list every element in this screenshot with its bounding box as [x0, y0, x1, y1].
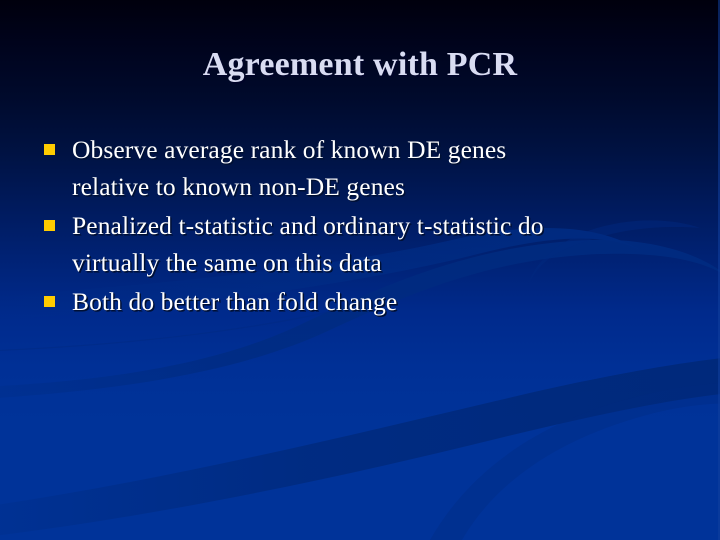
list-item: Observe average rank of known DE genes r…: [44, 131, 684, 205]
bullet-square-icon: [44, 296, 55, 307]
bullet-text: Observe average rank of known DE genes r…: [72, 131, 684, 205]
bullet-line: Penalized t-statistic and ordinary t-sta…: [72, 207, 684, 244]
bullet-square-icon: [44, 220, 55, 231]
bullet-list: Observe average rank of known DE genes r…: [44, 131, 684, 322]
bullet-line: Observe average rank of known DE genes: [72, 131, 684, 168]
list-item: Penalized t-statistic and ordinary t-sta…: [44, 207, 684, 281]
list-item: Both do better than fold change: [44, 283, 684, 320]
bullet-line: Both do better than fold change: [72, 283, 684, 320]
bullet-line: relative to known non-DE genes: [72, 168, 684, 205]
bullet-square-icon: [44, 144, 55, 155]
bullet-line: virtually the same on this data: [72, 244, 684, 281]
bullet-text: Both do better than fold change: [72, 283, 684, 320]
slide-canvas: Agreement with PCR Observe average rank …: [0, 0, 720, 540]
page-title: Agreement with PCR: [50, 44, 670, 86]
bullet-text: Penalized t-statistic and ordinary t-sta…: [72, 207, 684, 281]
